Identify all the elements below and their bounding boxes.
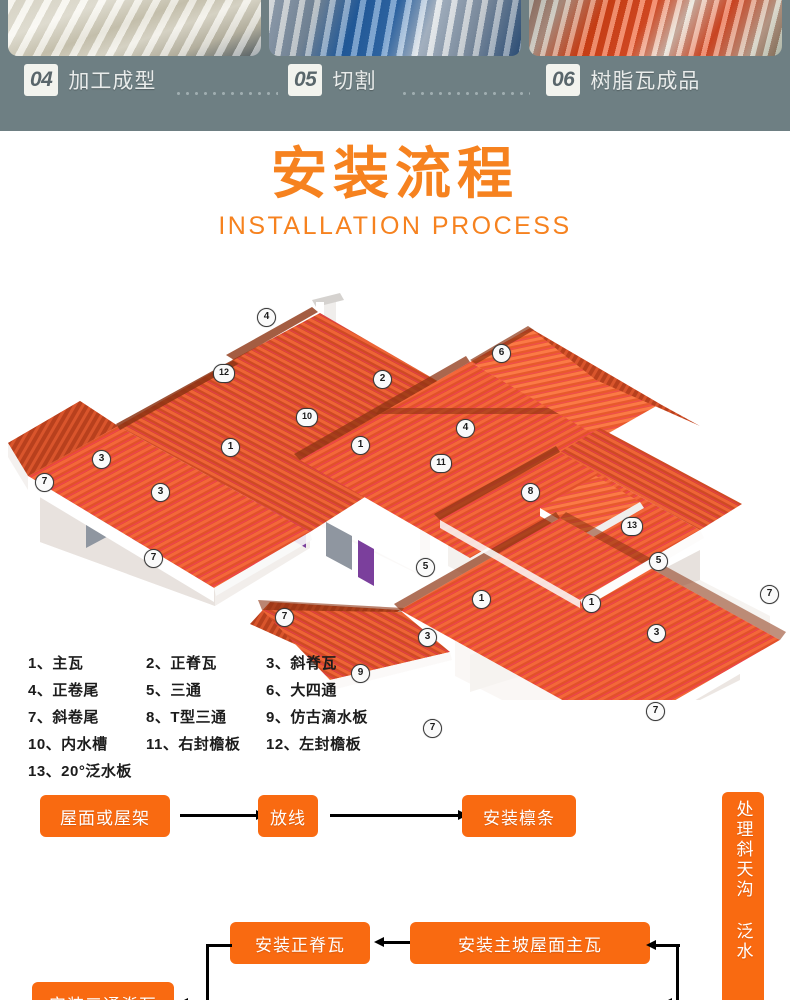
flow-arrowhead-3 [374,937,384,947]
flow-right-bracket-top [654,944,680,947]
flow-box-install-purlins[interactable]: 安装檩条 [462,795,576,837]
callout-13: 13 [621,517,643,536]
callout-4: 4 [257,308,276,327]
process-steps-band: 04 加工成型 05 切割 06 树脂瓦成品 [0,0,790,131]
installation-process-page: 04 加工成型 05 切割 06 树脂瓦成品 安装流程 INSTALLATION… [0,0,790,1000]
callout-7d: 7 [275,608,294,627]
photo-white-corrugated-sheet [8,0,261,56]
step-05: 05 切割 [288,64,376,96]
legend-row: 13、20°泛水板 [28,760,398,781]
callout-8: 8 [521,483,540,502]
flow-box-install-ridge-tiles[interactable]: 安装正脊瓦 [230,922,370,964]
callout-3a: 3 [92,450,111,469]
callout-4b: 4 [456,419,475,438]
callout-7e: 7 [423,719,442,738]
step-connector-dots-2 [400,92,530,95]
legend-row: 10、内水槽 11、右封檐板 12、左封檐板 [28,733,398,754]
page-subtitle: INSTALLATION PROCESS [0,212,790,241]
flow-arrow-line-1 [180,814,258,817]
flow-right-bracket-vertical [676,944,679,1000]
callout-10: 10 [296,408,318,427]
legend-item-12: 12、左封檐板 [266,733,396,754]
legend-row: 7、斜卷尾 8、T型三通 9、仿古滴水板 [28,706,398,727]
flow-box-install-tee-ridge[interactable]: 安装三通脊瓦 [32,982,174,1000]
flow-box-roof-or-truss[interactable]: 屋面或屋架 [40,795,170,837]
flow-arrow-line-2 [330,814,460,817]
step-05-label: 切割 [332,65,376,95]
flow-box-handle-valley[interactable]: 处理斜天沟 泛水 [722,792,764,1000]
photo-production-line [269,0,522,56]
legend-item-5: 5、三通 [146,679,266,700]
callout-11: 11 [430,454,452,473]
step-06-label: 树脂瓦成品 [590,65,700,95]
flow-bracket-vertical [206,944,209,1000]
legend-item-4: 4、正卷尾 [28,679,146,700]
callout-1b: 1 [351,436,370,455]
callout-7f: 7 [646,702,665,721]
step-06: 06 树脂瓦成品 [546,64,700,96]
step-04: 04 加工成型 [24,64,156,96]
legend-item-8: 8、T型三通 [146,706,266,727]
legend-item-13: 13、20°泛水板 [28,760,146,781]
callout-7a: 7 [35,473,54,492]
photo-finished-red-tiles [529,0,782,56]
step-04-label: 加工成型 [68,65,156,95]
legend-row: 4、正卷尾 5、三通 6、大四通 [28,679,398,700]
legend-item-7: 7、斜卷尾 [28,706,146,727]
legend-item-2: 2、正脊瓦 [146,652,266,673]
callout-3d: 3 [647,624,666,643]
callout-6: 6 [492,344,511,363]
callout-7b: 7 [144,549,163,568]
legend-row: 1、主瓦 2、正脊瓦 3、斜脊瓦 [28,652,398,673]
step-labels: 04 加工成型 05 切割 06 树脂瓦成品 [0,56,790,131]
photo-strip [0,0,790,56]
legend-item-1: 1、主瓦 [28,652,146,673]
parts-legend: 1、主瓦 2、正脊瓦 3、斜脊瓦 4、正卷尾 5、三通 6、大四通 7、斜卷尾 … [28,652,398,787]
callout-5b: 5 [649,552,668,571]
callout-3b: 3 [151,483,170,502]
flow-arrowhead-6 [646,940,656,950]
legend-item-11: 11、右封檐板 [146,733,266,754]
step-05-number: 05 [288,64,322,96]
legend-item-3: 3、斜脊瓦 [266,652,396,673]
callout-5a: 5 [416,558,435,577]
legend-item-6: 6、大四通 [266,679,396,700]
page-title: 安装流程 [0,143,790,206]
callout-3c: 3 [418,628,437,647]
step-connector-dots-1 [174,92,278,95]
callout-1d: 1 [582,594,601,613]
roof-diagram: 4 12 2 6 10 1 1 4 11 3 7 3 8 13 7 5 5 1 … [0,280,790,700]
section-title: 安装流程 INSTALLATION PROCESS [0,143,790,241]
house-illustration [0,280,790,700]
installation-flowchart: 屋面或屋架 放线 安装檩条 安装正脊瓦 安装主坡屋面主瓦 安装斜脊瓦 安装次坡屋… [0,780,790,1000]
flow-bracket-top [206,944,232,947]
legend-item-9: 9、仿古滴水板 [266,706,396,727]
flow-box-install-main-slope[interactable]: 安装主坡屋面主瓦 [410,922,650,964]
callout-7c: 7 [760,585,779,604]
callout-1a: 1 [221,438,240,457]
callout-2: 2 [373,370,392,389]
legend-item-10: 10、内水槽 [28,733,146,754]
callout-1c: 1 [472,590,491,609]
step-04-number: 04 [24,64,58,96]
callout-12: 12 [213,364,235,383]
flow-box-layout-lines[interactable]: 放线 [258,795,318,837]
step-06-number: 06 [546,64,580,96]
